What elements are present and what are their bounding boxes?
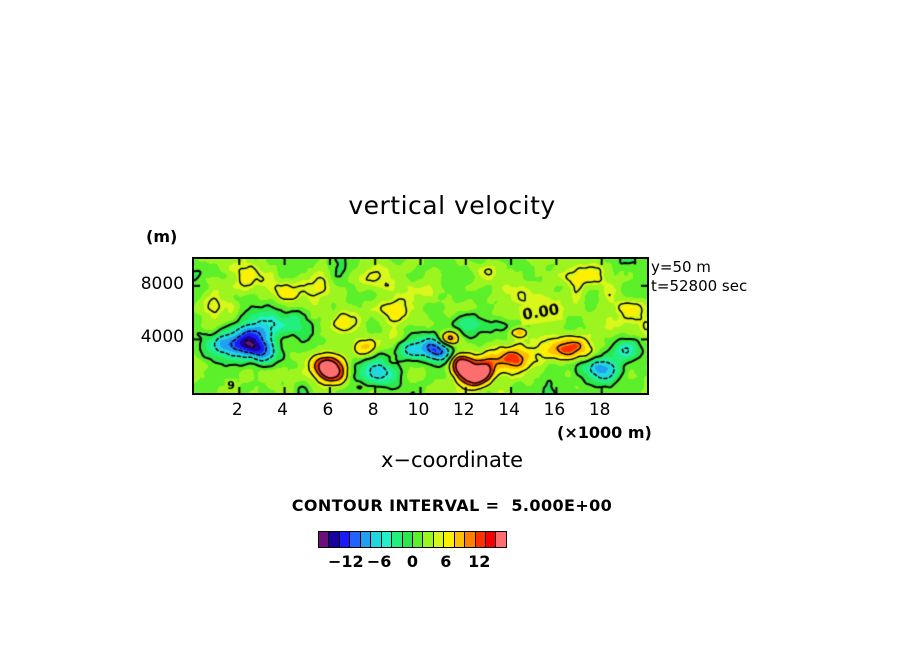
colorbar <box>318 531 507 548</box>
colorbar-swatch <box>465 532 475 547</box>
x-tick-label: 18 <box>580 400 620 420</box>
colorbar-swatch <box>496 532 505 547</box>
colorbar-swatch <box>413 532 423 547</box>
colorbar-swatch <box>361 532 371 547</box>
colorbar-tick-label: −12 <box>328 552 364 571</box>
colorbar-swatch <box>329 532 339 547</box>
y-tick-label: 4000 <box>141 327 184 347</box>
x-tick-label: 16 <box>534 400 574 420</box>
x-tick-label: 10 <box>399 400 439 420</box>
colorbar-swatch <box>403 532 413 547</box>
colorbar-swatch <box>423 532 433 547</box>
colorbar-swatch <box>371 532 381 547</box>
plot-annotations: y=50 mt=52800 sec <box>651 258 747 296</box>
x-tick-label: 4 <box>263 400 303 420</box>
colorbar-tick-labels: −12−60612 <box>318 552 507 574</box>
colorbar-swatch <box>350 532 360 547</box>
colorbar-tick-label: −6 <box>367 552 392 571</box>
colorbar-swatch <box>476 532 486 547</box>
colorbar-swatch <box>486 532 496 547</box>
velocity-field-canvas <box>194 259 647 393</box>
x-tick-label: 6 <box>308 400 348 420</box>
colorbar-swatch <box>455 532 465 547</box>
colorbar-tick-label: 12 <box>468 552 490 571</box>
x-tick-label: 8 <box>353 400 393 420</box>
x-axis-label: x−coordinate <box>0 448 904 472</box>
colorbar-swatch <box>434 532 444 547</box>
colorbar-swatch <box>382 532 392 547</box>
colorbar-swatches <box>318 531 507 548</box>
colorbar-swatch <box>340 532 350 547</box>
x-axis-tick-labels: 24681012141618 <box>192 398 645 422</box>
contour-interval-caption: CONTOUR INTERVAL = 5.000E+00 <box>0 496 904 515</box>
x-tick-label: 12 <box>444 400 484 420</box>
annotation-line: y=50 m <box>651 258 747 277</box>
x-tick-label: 14 <box>489 400 529 420</box>
y-tick-label: 8000 <box>141 274 184 294</box>
y-axis-unit-label: (m) <box>146 227 177 246</box>
colorbar-tick-label: 6 <box>440 552 451 571</box>
colorbar-swatch <box>319 532 329 547</box>
colorbar-tick-label: 0 <box>407 552 418 571</box>
x-axis-unit-label: (×1000 m) <box>557 423 652 442</box>
y-axis-tick-labels: 80004000 <box>132 257 184 391</box>
x-tick-label: 2 <box>217 400 257 420</box>
contour-plot-panel <box>192 257 649 395</box>
page-title: vertical velocity <box>0 191 904 220</box>
colorbar-swatch <box>444 532 454 547</box>
annotation-line: t=52800 sec <box>651 277 747 296</box>
colorbar-swatch <box>392 532 402 547</box>
